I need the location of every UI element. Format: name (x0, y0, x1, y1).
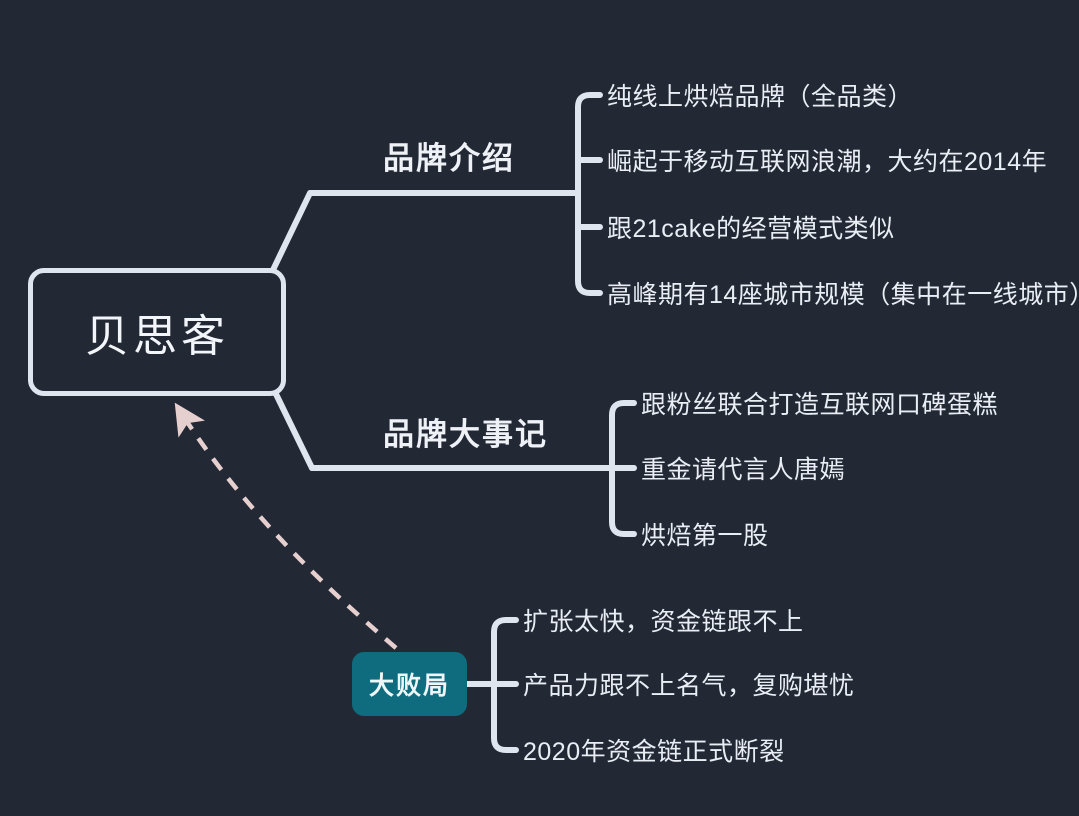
node-great-failure-label: 大败局 (369, 666, 450, 702)
leaf-great-failure-3[interactable]: 2020年资金链正式断裂 (523, 732, 785, 768)
leaf-brand-intro-2[interactable]: 崛起于移动互联网浪潮，大约在2014年 (607, 142, 1047, 178)
root-node-label: 贝思客 (85, 300, 229, 364)
leaf-brand-intro-4[interactable]: 高峰期有14座城市规模（集中在一线城市） (607, 275, 1079, 311)
leaf-brand-intro-1[interactable]: 纯线上烘焙品牌（全品类） (607, 77, 913, 113)
leaf-great-failure-2[interactable]: 产品力跟不上名气，复购堪忧 (523, 666, 855, 702)
leaf-brand-milestones-2[interactable]: 重金请代言人唐嫣 (641, 450, 845, 486)
leaf-brand-intro-3[interactable]: 跟21cake的经营模式类似 (607, 209, 895, 245)
leaf-brand-milestones-3[interactable]: 烘焙第一股 (641, 516, 769, 552)
node-great-failure[interactable]: 大败局 (352, 652, 467, 716)
mindmap-canvas: 贝思客 品牌介绍 品牌大事记 纯线上烘焙品牌（全品类） 崛起于移动互联网浪潮，大… (0, 0, 1079, 816)
connector-great-failure (467, 620, 516, 750)
leaf-great-failure-1[interactable]: 扩张太快，资金链跟不上 (523, 602, 804, 638)
connector-brand-intro (272, 95, 600, 293)
dashed-relation-arrow (182, 414, 396, 648)
root-node[interactable]: 贝思客 (28, 268, 286, 396)
branch-label-brand-milestones[interactable]: 品牌大事记 (383, 409, 548, 454)
branch-label-brand-intro[interactable]: 品牌介绍 (383, 133, 515, 178)
leaf-brand-milestones-1[interactable]: 跟粉丝联合打造互联网口碑蛋糕 (641, 385, 998, 421)
